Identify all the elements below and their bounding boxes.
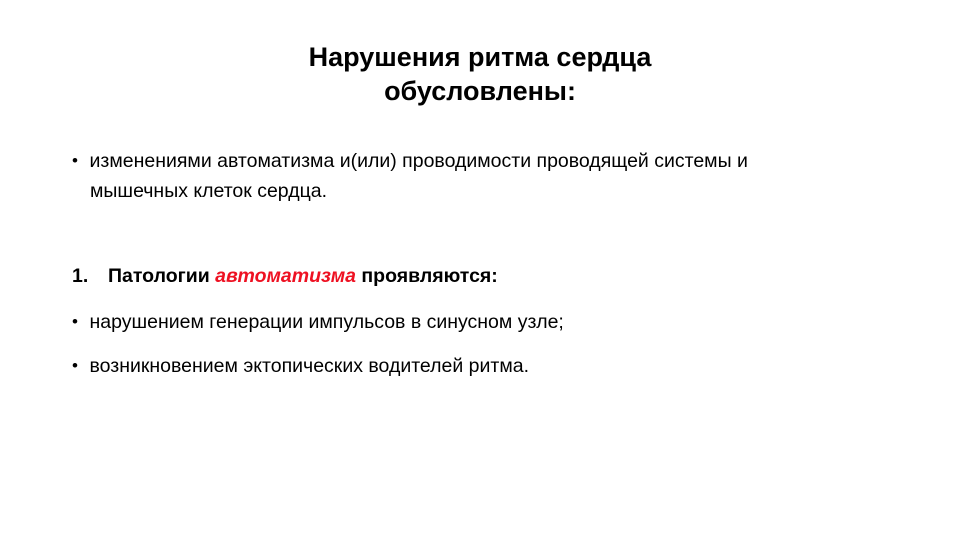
sub-bullet-item-1: • нарушением генерации импульсов в синус… [0,307,960,337]
numbered-item-text-before: Патологии [108,265,215,287]
slide-body: • изменениями автоматизма и(или) проводи… [0,140,960,381]
slide-title-line-2: обусловлены: [60,74,900,108]
numbered-item-emphasis: автоматизма [215,265,356,287]
bullet-point-icon: • [72,351,78,381]
bullet-point-icon: • [72,146,78,176]
sub-bullet-text-1: нарушением генерации импульсов в синусно… [90,307,920,337]
intro-bullet-item: • изменениями автоматизма и(или) проводи… [0,146,960,206]
numbered-list-item-1: 1. Патологии автоматизма проявляются: [0,262,960,290]
slide-title: Нарушения ритма сердца обусловлены: [60,40,900,108]
slide-title-line-1: Нарушения ритма сердца [60,40,900,74]
intro-bullet-text: изменениями автоматизма и(или) проводимо… [90,146,850,206]
presentation-slide: Нарушения ритма сердца обусловлены: • из… [0,0,960,540]
list-number-label: 1. [72,262,88,290]
bullet-point-icon: • [72,307,78,337]
sub-bullet-text-2: возникновением эктопических водителей ри… [90,351,920,381]
sub-bullet-item-2: • возникновением эктопических водителей … [0,351,960,381]
numbered-item-text-after: проявляются: [356,265,498,287]
